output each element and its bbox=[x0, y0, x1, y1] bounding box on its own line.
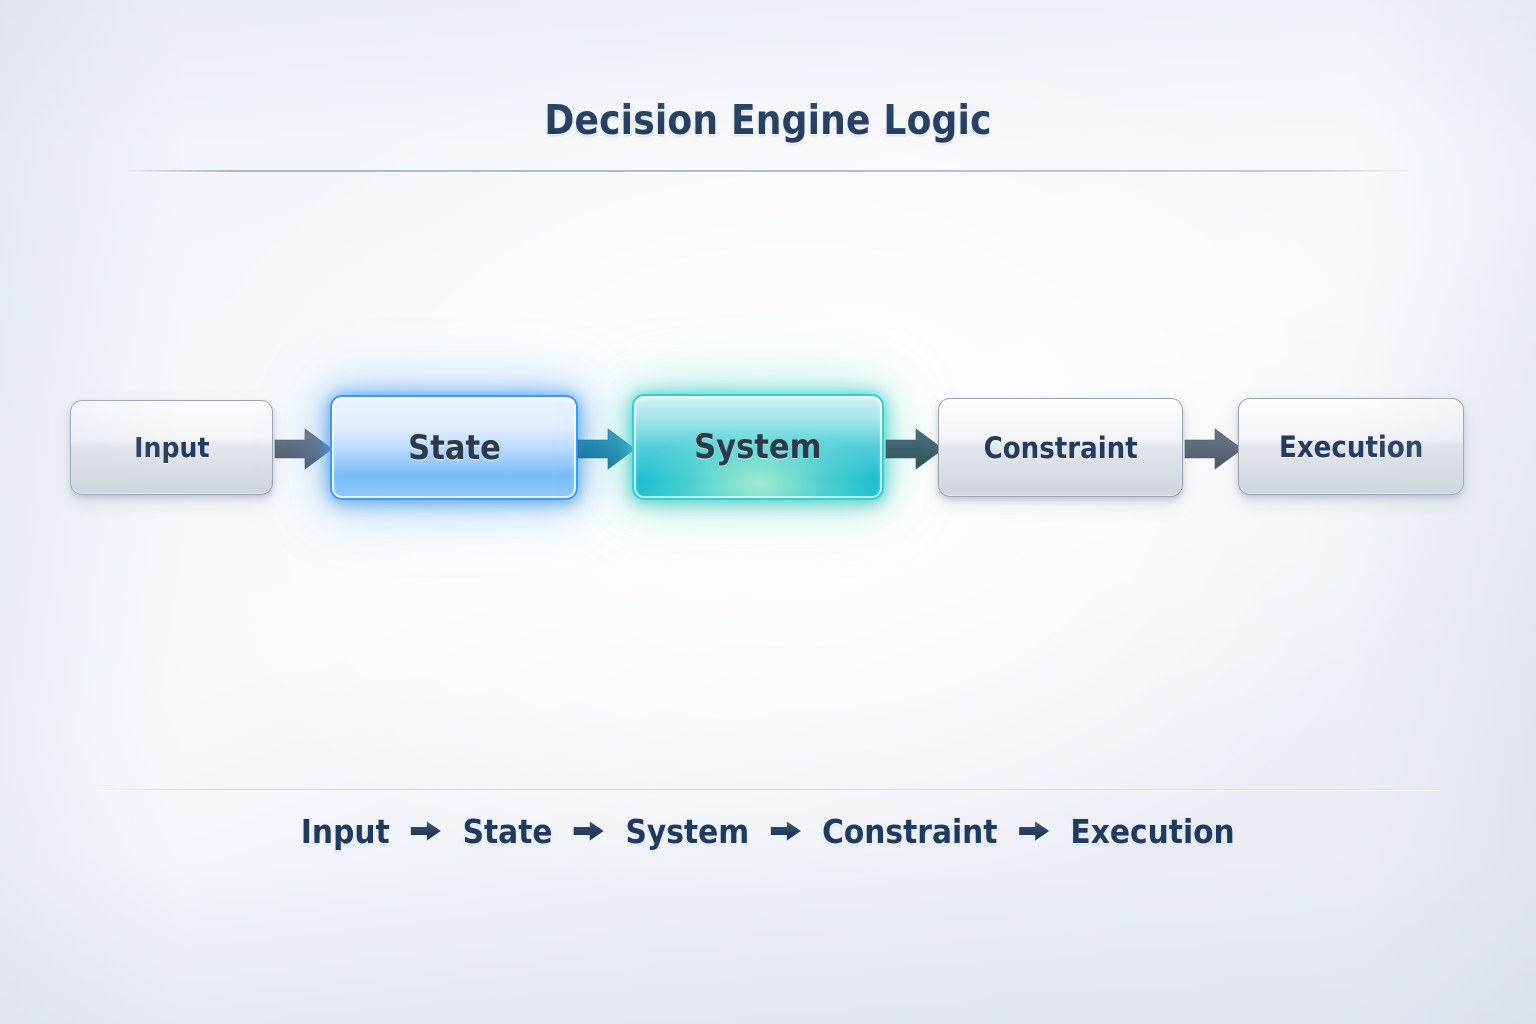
caption-arrow-icon-4 bbox=[1019, 821, 1050, 841]
title-divider bbox=[128, 170, 1408, 172]
flow-node-input[interactable]: Input bbox=[70, 400, 273, 495]
caption-step-input: Input bbox=[301, 812, 390, 851]
flow-node-execution[interactable]: Execution bbox=[1238, 398, 1464, 495]
flow-node-constraint[interactable]: Constraint bbox=[938, 398, 1183, 497]
flow-node-input-label: Input bbox=[134, 431, 209, 464]
caption-step-constraint: Constraint bbox=[822, 812, 997, 851]
flow-arrow-system-to-constraint bbox=[886, 427, 944, 471]
flow-node-system[interactable]: System bbox=[632, 394, 884, 500]
caption-step-system: System bbox=[626, 812, 750, 851]
page-title: Decision Engine Logic bbox=[92, 96, 1444, 144]
footer-divider bbox=[96, 789, 1440, 790]
flow-arrow-state-to-system bbox=[578, 427, 636, 471]
flow-arrow-constraint-to-execution bbox=[1185, 427, 1243, 471]
flow-node-state[interactable]: State bbox=[330, 395, 578, 500]
caption-arrow-icon-3 bbox=[771, 821, 802, 841]
flow-node-constraint-label: Constraint bbox=[983, 431, 1137, 465]
flow-node-system-label: System bbox=[694, 427, 821, 467]
caption-step-state: State bbox=[463, 812, 553, 851]
flow-caption: Input State System bbox=[0, 812, 1536, 851]
caption-arrow-icon-1 bbox=[411, 821, 442, 841]
flow-arrow-input-to-state bbox=[275, 427, 333, 471]
caption-arrow-icon-2 bbox=[574, 821, 605, 841]
diagram-canvas: Decision Engine Logic Input State bbox=[0, 0, 1536, 1024]
flow-node-execution-label: Execution bbox=[1279, 430, 1423, 464]
flow-node-state-label: State bbox=[408, 428, 501, 468]
caption-step-execution: Execution bbox=[1071, 812, 1235, 851]
flow-row: Input State bbox=[0, 380, 1536, 530]
